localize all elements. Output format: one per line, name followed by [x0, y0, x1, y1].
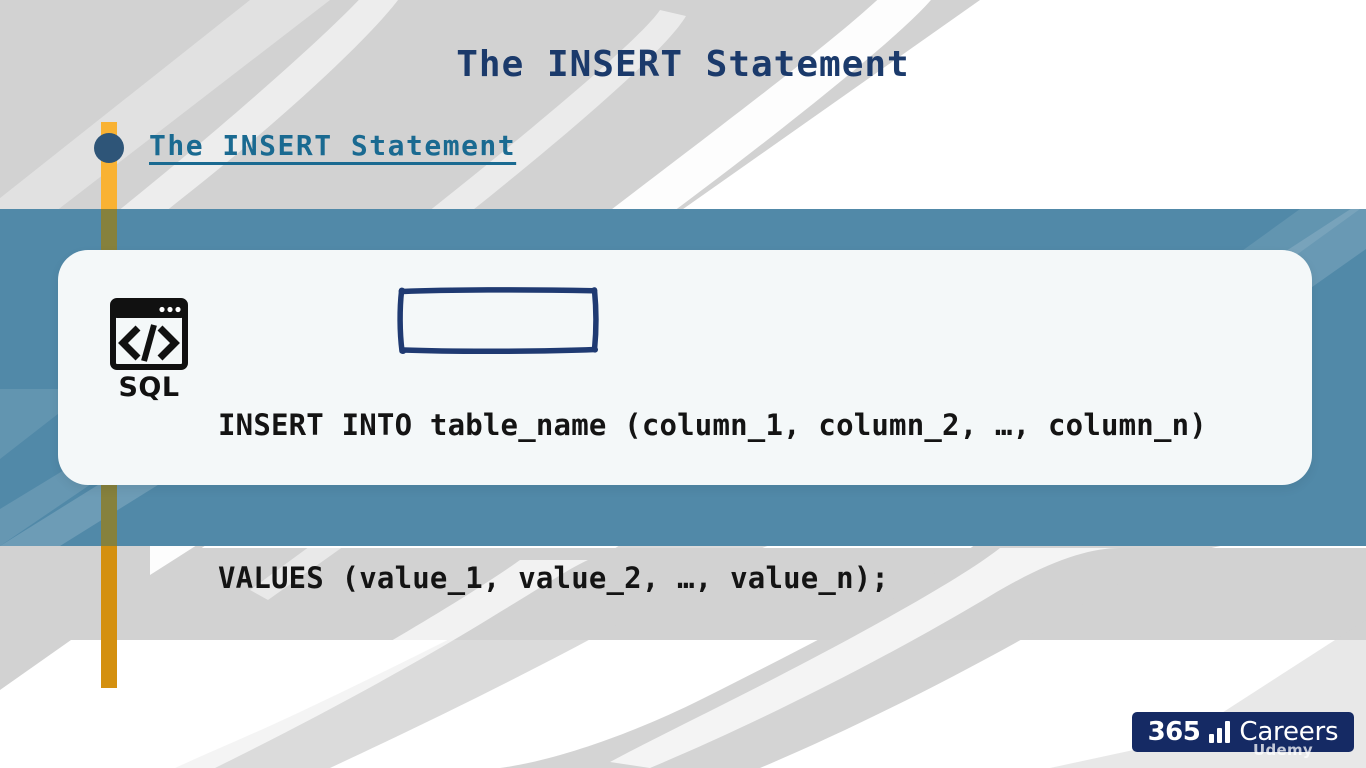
page-title: The INSERT Statement	[0, 44, 1366, 85]
udemy-watermark: Udemy	[1253, 741, 1313, 759]
agenda-item-insert-statement[interactable]: The INSERT Statement	[149, 129, 516, 162]
logo-number: 365	[1148, 717, 1201, 747]
timeline-bullet-marker	[94, 133, 124, 163]
brand-logo: 365 Careers	[1132, 712, 1354, 752]
sql-icon-label: SQL	[103, 372, 195, 403]
sql-code-block: INSERT INTO table_name (column_1, column…	[218, 298, 1282, 706]
sql-icon-group: SQL	[103, 298, 195, 403]
sql-code-line-2: VALUES (value_1, value_2, …, value_n);	[218, 553, 1282, 604]
sql-code-line-1: INSERT INTO table_name (column_1, column…	[218, 400, 1282, 451]
slide-canvas: The INSERT Statement The INSERT Statemen…	[0, 0, 1366, 768]
timeline-bar-lower-segment	[101, 546, 117, 688]
code-card: SQL INSERT INTO table_name (column_1, co…	[58, 250, 1312, 485]
bar-chart-icon	[1209, 721, 1230, 743]
sql-code-window-icon	[110, 298, 188, 370]
